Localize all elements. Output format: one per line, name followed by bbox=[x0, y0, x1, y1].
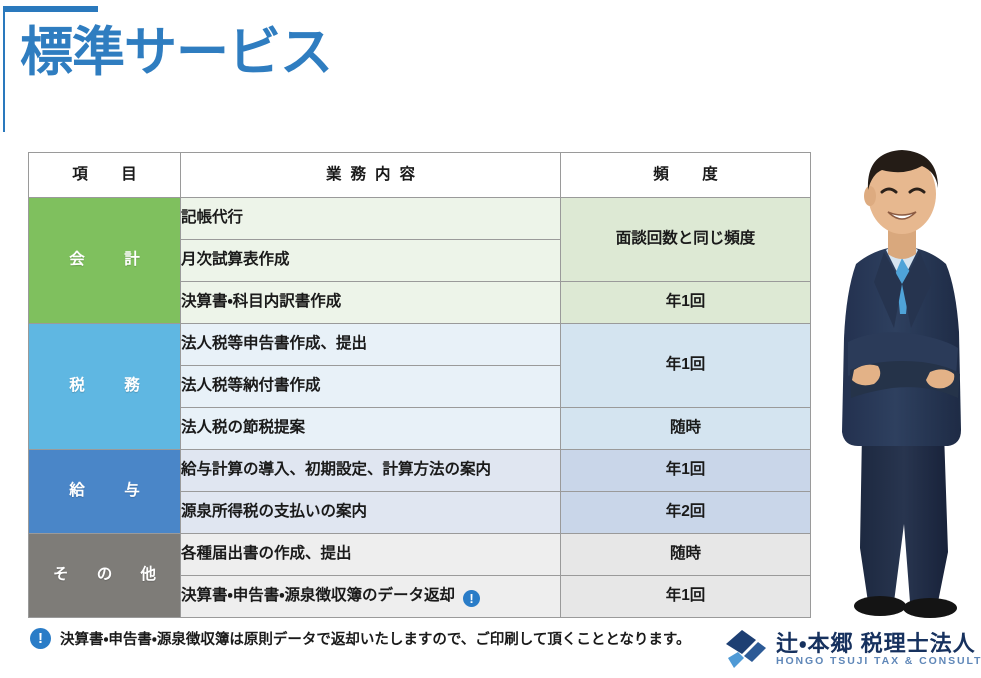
frequency-cell: 年1回 bbox=[561, 450, 811, 492]
footnote: ! 決算書・申告書・源泉徴収簿は原則データで返却いたしますので、ご印刷して頂くこ… bbox=[30, 628, 690, 649]
frequency-cell: 年1回 bbox=[561, 576, 811, 618]
task-cell: 月次試算表作成 bbox=[181, 240, 561, 282]
shoe-right bbox=[903, 598, 957, 618]
table-header-row: 項 目 業務内容 頻 度 bbox=[29, 153, 811, 198]
logo-text: 辻・本郷 税理士法人 HONGO TSUJI TAX & CONSULTING bbox=[776, 632, 981, 667]
task-label: 決算書・申告書・源泉徴収簿のデータ返却 bbox=[181, 587, 455, 604]
shoe-left bbox=[854, 596, 906, 616]
standard-service-table: 項 目 業務内容 頻 度 会 計 記帳代行 面談回数と同じ頻度 月次試算表作成 … bbox=[28, 152, 811, 618]
table-row: そ の 他 各種届出書の作成、提出 随時 bbox=[29, 534, 811, 576]
task-cell: 法人税の節税提案 bbox=[181, 408, 561, 450]
category-cell-accounting: 会 計 bbox=[29, 198, 181, 324]
task-cell: 記帳代行 bbox=[181, 198, 561, 240]
frequency-cell: 年1回 bbox=[561, 282, 811, 324]
category-cell-other: そ の 他 bbox=[29, 534, 181, 618]
frequency-cell: 随時 bbox=[561, 534, 811, 576]
page-title: 標準サービス bbox=[20, 26, 332, 79]
task-cell: 法人税等申告書作成、提出 bbox=[181, 324, 561, 366]
footnote-text: 決算書・申告書・源泉徴収簿は原則データで返却いたしますので、ご印刷して頂くことと… bbox=[60, 628, 690, 649]
task-cell: 法人税等納付書作成 bbox=[181, 366, 561, 408]
logo-mark-icon bbox=[722, 628, 768, 672]
category-cell-tax: 税 務 bbox=[29, 324, 181, 450]
task-cell: 決算書・科目内訳書作成 bbox=[181, 282, 561, 324]
frequency-cell: 年1回 bbox=[561, 324, 811, 408]
table-row: 税 務 法人税等申告書作成、提出 年1回 bbox=[29, 324, 811, 366]
frequency-cell: 面談回数と同じ頻度 bbox=[561, 198, 811, 282]
title-rule-left bbox=[3, 6, 5, 132]
logo-name-en: HONGO TSUJI TAX & CONSULTING bbox=[776, 656, 981, 668]
task-cell-with-note: 決算書・申告書・源泉徴収簿のデータ返却! bbox=[181, 576, 561, 618]
column-header-frequency: 頻 度 bbox=[561, 153, 811, 198]
title-rule-top bbox=[3, 6, 98, 12]
businessman-photo bbox=[818, 132, 981, 627]
category-cell-payroll: 給 与 bbox=[29, 450, 181, 534]
column-header-item: 項 目 bbox=[29, 153, 181, 198]
table-row: 給 与 給与計算の導入、初期設定、計算方法の案内 年1回 bbox=[29, 450, 811, 492]
exclamation-icon: ! bbox=[463, 590, 480, 607]
company-logo: 辻・本郷 税理士法人 HONGO TSUJI TAX & CONSULTING bbox=[722, 626, 981, 674]
task-cell: 源泉所得税の支払いの案内 bbox=[181, 492, 561, 534]
task-cell: 給与計算の導入、初期設定、計算方法の案内 bbox=[181, 450, 561, 492]
businessman-illustration bbox=[818, 132, 981, 627]
ear bbox=[864, 186, 876, 206]
task-cell: 各種届出書の作成、提出 bbox=[181, 534, 561, 576]
column-header-task: 業務内容 bbox=[181, 153, 561, 198]
exclamation-icon: ! bbox=[30, 628, 51, 649]
frequency-cell: 年2回 bbox=[561, 492, 811, 534]
table-row: 会 計 記帳代行 面談回数と同じ頻度 bbox=[29, 198, 811, 240]
frequency-cell: 随時 bbox=[561, 408, 811, 450]
logo-name-ja: 辻・本郷 税理士法人 bbox=[776, 632, 981, 656]
slide-title-block: 標準サービス bbox=[3, 6, 303, 132]
trousers bbox=[860, 432, 948, 602]
